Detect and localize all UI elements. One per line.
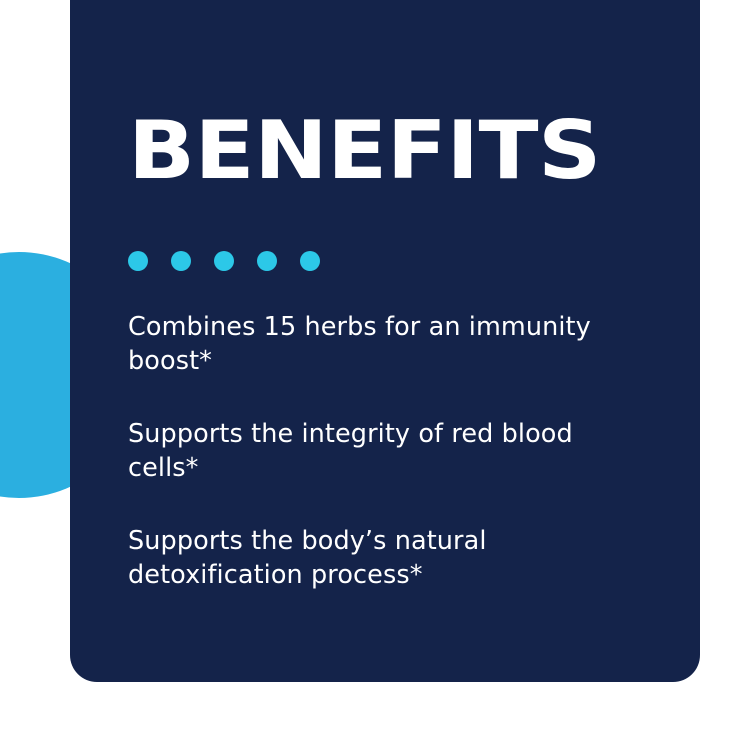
benefits-list: Combines 15 herbs for an immunity boost*… (128, 310, 608, 593)
divider-dot-icon (128, 251, 148, 271)
divider-dot-icon (214, 251, 234, 271)
benefits-card: BENEFITS Combines 15 herbs for an immuni… (70, 0, 700, 682)
divider-dot-icon (257, 251, 277, 271)
list-item: Supports the body’s natural detoxificati… (128, 524, 608, 593)
divider-dot-icon (171, 251, 191, 271)
card-content: BENEFITS Combines 15 herbs for an immuni… (128, 0, 676, 682)
divider-dot-icon (300, 251, 320, 271)
page-title: BENEFITS (128, 116, 601, 186)
list-item: Supports the integrity of red blood cell… (128, 417, 608, 486)
dot-divider (128, 251, 320, 271)
list-item: Combines 15 herbs for an immunity boost* (128, 310, 608, 379)
benefits-graphic: BENEFITS Combines 15 herbs for an immuni… (0, 0, 750, 750)
